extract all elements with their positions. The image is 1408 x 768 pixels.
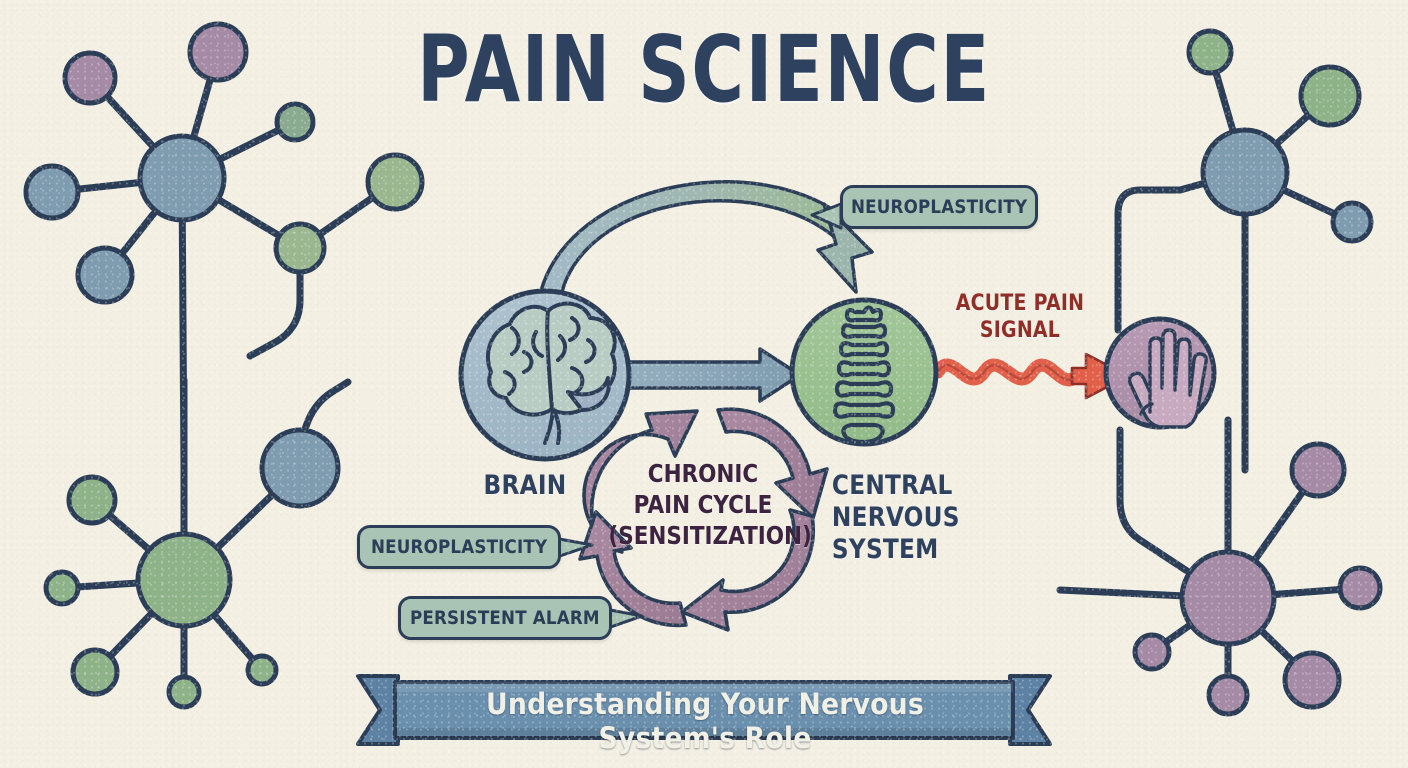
callout-persistent-alarm[interactable]: PERSISTENT ALARM <box>398 596 612 640</box>
acute-label-line1: ACUTE PAIN <box>943 290 1098 317</box>
acute-label-line2: SIGNAL <box>943 317 1098 344</box>
brain-label: BRAIN <box>465 470 585 501</box>
cns-label-line2: NERVOUS <box>832 502 978 534</box>
chronic-pain-cycle-label: CHRONIC PAIN CYCLE (SENSITIZATION) <box>608 458 797 551</box>
callout-neuroplasticity-top-text: NEUROPLASTICITY <box>851 196 1027 218</box>
cycle-line1: CHRONIC <box>608 458 797 489</box>
hand-node[interactable] <box>1106 319 1214 427</box>
callout-neuroplasticity-left-text: NEUROPLASTICITY <box>371 536 547 558</box>
arc-arrow-icon <box>537 182 872 312</box>
cycle-line2: PAIN CYCLE <box>608 489 797 520</box>
cns-label: CENTRAL NERVOUS SYSTEM <box>832 470 978 566</box>
cns-label-line3: SYSTEM <box>832 534 978 566</box>
cycle-line3: (SENSITIZATION) <box>608 520 797 551</box>
page-title: PAIN SCIENCE <box>155 16 1253 123</box>
acute-pain-signal-label: ACUTE PAIN SIGNAL <box>943 290 1098 344</box>
banner-subtitle: Understanding Your Nervous System's Role <box>415 687 995 755</box>
cns-node[interactable] <box>792 300 936 444</box>
cns-label-line1: CENTRAL <box>832 470 978 502</box>
callout-persistent-alarm-text: PERSISTENT ALARM <box>410 607 600 629</box>
callout-neuroplasticity-left[interactable]: NEUROPLASTICITY <box>357 525 561 569</box>
brain-node[interactable] <box>461 291 629 459</box>
wavy-arrow-icon <box>938 354 1128 398</box>
poster-canvas: PAIN SCIENCE BRAIN CENTRAL NERVOUS SYSTE… <box>0 0 1408 768</box>
straight-arrow-icon <box>614 349 800 401</box>
callout-neuroplasticity-top[interactable]: NEUROPLASTICITY <box>840 185 1038 229</box>
